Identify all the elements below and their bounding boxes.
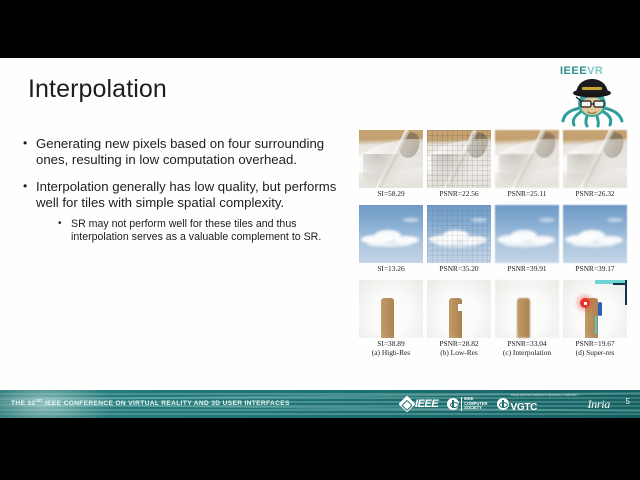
ieee-logo-label: IEEE [415,398,438,410]
ieee-vr-vr-text: VR [587,65,603,77]
column-label-d: (d) Super-res [563,348,627,357]
conference-name: THE 32ND IEEE CONFERENCE ON VIRTUAL REAL… [11,398,290,407]
figure-row-sky: SI=13.26 PSNR=35.20 PSNR=39.91 [359,205,633,273]
metric-label: SI=13.26 [359,264,423,273]
thumb-post-interp [495,280,559,338]
thumb-sheet-lowres [427,130,491,188]
figure-cell: PSNR=39.91 [495,205,559,273]
column-label-c: (c) Interpolation [495,348,559,357]
thumb-sky-highres [359,205,423,263]
figure-cell: PSNR=25.11 [495,130,559,198]
ieee-logo: IEEE [401,398,438,410]
ieee-vr-ieee-text: IEEE [560,65,587,77]
column-label-b: (b) Low-Res [427,348,491,357]
metric-label: PSNR=35.20 [427,264,491,273]
conference-prefix: THE 32 [11,400,35,407]
thumb-sky-superres [563,205,627,263]
thumb-sky-lowres [427,205,491,263]
red-marker-artifact [580,298,590,308]
figure-cell: PSNR=39.17 [563,205,627,273]
metric-label: SI=58.29 [359,189,423,198]
page-number: 5 [626,397,630,406]
metric-label: PSNR=33.04 [495,339,559,348]
octopus-pirate-icon [554,78,632,128]
sub-bullet-item-1: SR may not perform well for these tiles … [56,218,354,245]
metric-label: PSNR=22.56 [427,189,491,198]
ieee-vr-logo: IEEEVR [554,62,632,126]
thumb-sheet-highres [359,130,423,188]
ieee-cs-line3: SOCIETY [464,405,482,410]
cyan-line-artifact [595,316,597,334]
ieee-cs-circle-icon [447,398,459,410]
dark-ui-stem-artifact [625,280,627,305]
figure-cell: PSNR=28.82 (b) Low-Res [427,280,491,357]
figure-cell: SI=58.29 [359,130,423,198]
vgtc-text-block: VISUALIZATION & GRAPHICS TECHNICAL COMMU… [511,394,579,415]
figure-cell: SI=38.89 (a) High-Res [359,280,423,357]
blue-marker-artifact [598,302,602,316]
sponsor-logos: IEEE IEEE COMPUTER SOCIETY VISUALIZATION… [401,390,610,418]
vgtc-circle-icon [497,398,509,410]
conference-ordinal: ND [35,398,42,403]
figure-cell: PSNR=22.56 [427,130,491,198]
conference-footer-band: THE 32ND IEEE CONFERENCE ON VIRTUAL REAL… [0,390,640,418]
ieee-cs-label: IEEE COMPUTER SOCIETY [461,397,487,410]
vgtc-label: VGTC [511,402,538,413]
metric-label: PSNR=28.82 [427,339,491,348]
figure-cell: PSNR=35.20 [427,205,491,273]
bullet-list: Generating new pixels based on four surr… [22,136,354,244]
bullet-item-1: Generating new pixels based on four surr… [22,136,354,169]
vgtc-sublabel-top: VISUALIZATION & GRAPHICS TECHNICAL COMMU… [511,394,579,397]
ieee-diamond-icon [398,396,415,413]
metric-label: PSNR=19.67 [563,339,627,348]
figure-row-post: SI=38.89 (a) High-Res PSNR=28.82 (b) Low… [359,280,633,357]
inria-logo: Inria [587,397,610,412]
figure-cell: PSNR=26.32 [563,130,627,198]
ieee-computer-society-logo: IEEE COMPUTER SOCIETY [447,397,487,410]
ieee-vr-wordmark: IEEEVR [560,65,603,77]
conference-suffix: IEEE CONFERENCE ON VIRTUAL REALITY AND 3… [43,400,290,407]
thumb-post-lowres [427,280,491,338]
figure-cell: PSNR=19.67 (d) Super-res [563,280,627,357]
thumb-sheet-interp [495,130,559,188]
figure-row-sheet: SI=58.29 PSNR=22.56 PSNR=25.11 [359,130,633,198]
vgtc-logo: VISUALIZATION & GRAPHICS TECHNICAL COMMU… [497,394,579,415]
video-viewport: Interpolation Generating new pixels base… [0,0,640,480]
metric-label: PSNR=39.17 [563,264,627,273]
thumb-sheet-superres [563,130,627,188]
interpolation-comparison-grid: SI=58.29 PSNR=22.56 PSNR=25.11 [359,130,633,364]
bullet-item-2: Interpolation generally has low quality,… [22,179,354,212]
metric-label: SI=38.89 [359,339,423,348]
thumb-sky-interp [495,205,559,263]
figure-cell: SI=13.26 [359,205,423,273]
metric-label: PSNR=26.32 [563,189,627,198]
page-title: Interpolation [28,76,167,104]
figure-cell: PSNR=33.04 (c) Interpolation [495,280,559,357]
dark-ui-stem2-artifact [613,283,625,285]
metric-label: PSNR=25.11 [495,189,559,198]
thumb-post-highres [359,280,423,338]
thumb-post-superres [563,280,627,338]
presentation-slide: Interpolation Generating new pixels base… [0,58,640,418]
metric-label: PSNR=39.91 [495,264,559,273]
column-label-a: (a) High-Res [359,348,423,357]
